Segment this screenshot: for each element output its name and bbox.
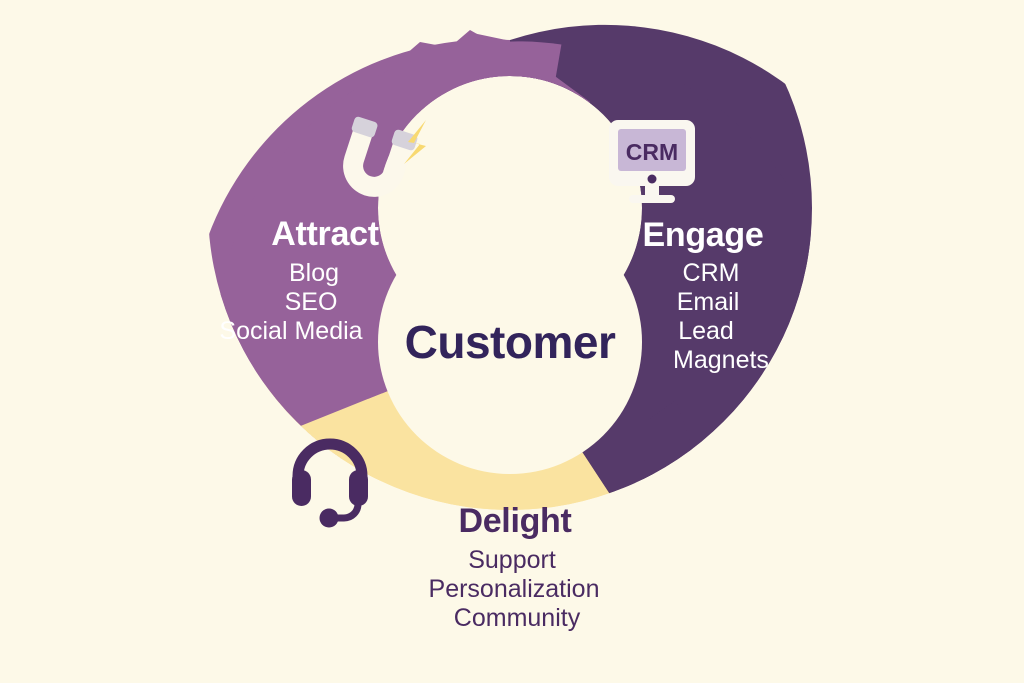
- diagram-canvas: CRM Attract Blog SEO Social Media Engage…: [0, 0, 1024, 683]
- delight-item-0: Support: [468, 546, 556, 574]
- segment-delight-labels: Delight Support Personalization Communit…: [429, 502, 600, 632]
- customer-lifecycle-diagram: CRM Attract Blog SEO Social Media Engage…: [0, 0, 1024, 683]
- delight-item-2: Community: [454, 604, 581, 632]
- crm-monitor-screen-label: CRM: [626, 139, 678, 165]
- delight-item-1: Personalization: [429, 575, 600, 603]
- headset-icon: [292, 444, 368, 528]
- center-label: Customer: [405, 316, 616, 368]
